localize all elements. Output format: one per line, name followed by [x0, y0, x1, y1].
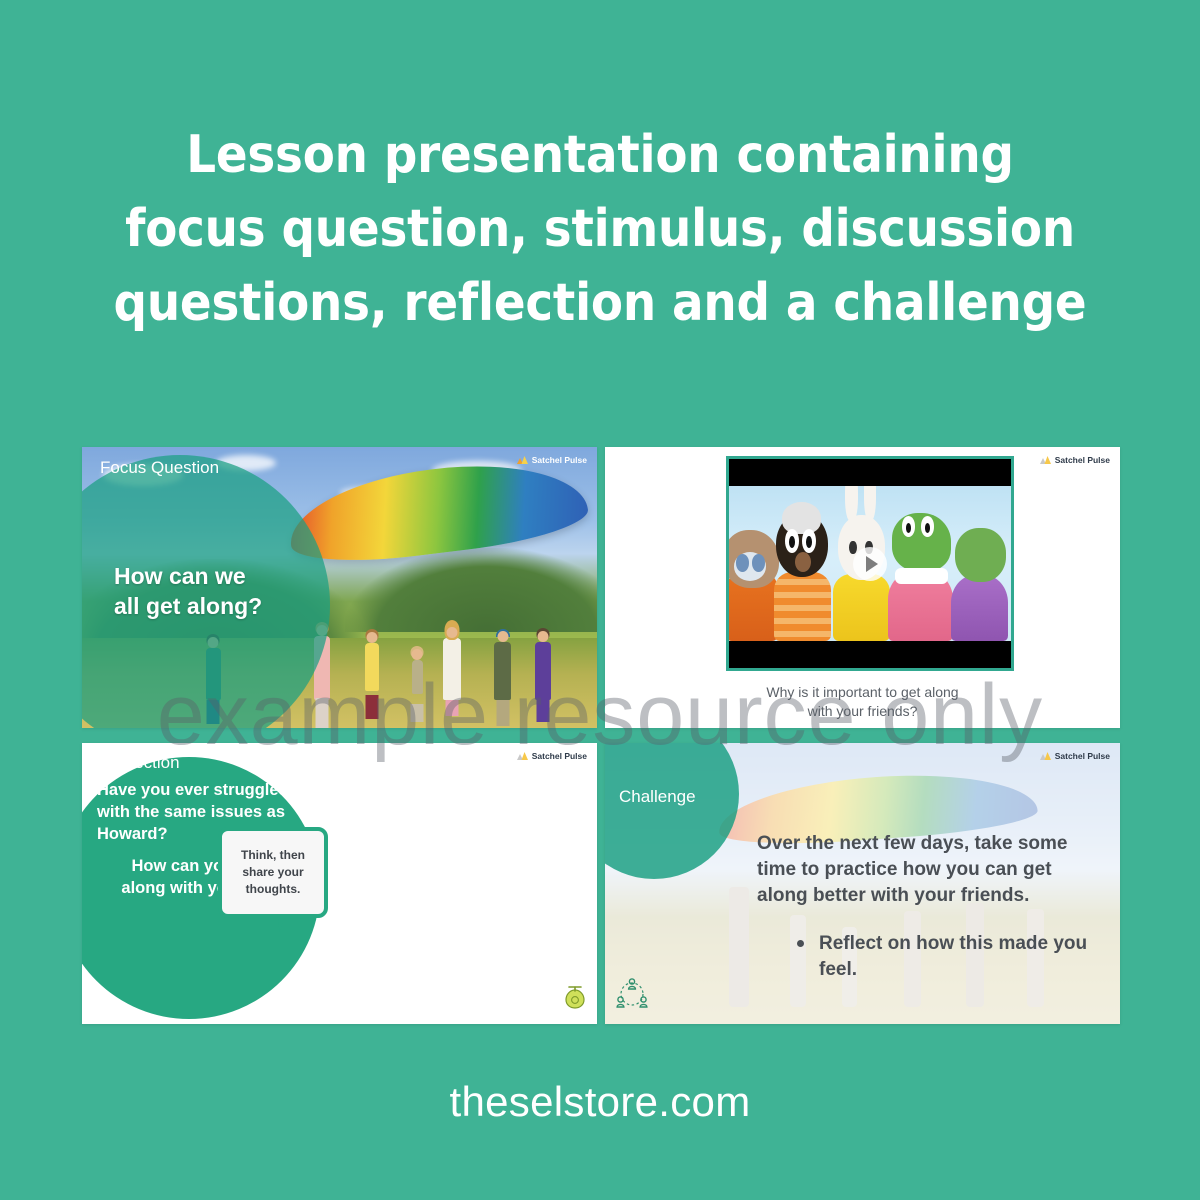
focus-question-line-1: How can we: [114, 563, 246, 589]
brand-logo-text: Satchel Pulse: [532, 751, 587, 761]
brand-logo: Satchel Pulse: [1040, 751, 1110, 761]
page-title-line-1: Lesson presentation containing: [0, 118, 1200, 192]
page-title-line-2: focus question, stimulus, discussion: [0, 192, 1200, 266]
child-figure: [494, 642, 511, 700]
slide-stimulus[interactable]: Satchel Pulse: [605, 447, 1120, 728]
cartoon-crocodile: [887, 511, 955, 641]
mountains-icon: [517, 456, 528, 464]
challenge-body-text: Over the next few days, take some time t…: [757, 833, 1067, 906]
slide-eyebrow-reflection: Reflection: [104, 753, 180, 773]
child-figure: [443, 638, 461, 700]
video-thumbnail: [729, 486, 1011, 641]
brand-logo: Satchel Pulse: [1040, 455, 1110, 465]
stimulus-caption: Why is it important to get along with yo…: [605, 683, 1120, 721]
challenge-body: Over the next few days, take some time t…: [757, 831, 1099, 983]
brand-logo: Satchel Pulse: [517, 455, 587, 465]
brand-logo: Satchel Pulse: [517, 751, 587, 761]
slide-focus-question[interactable]: Focus Question How can we all get along?…: [82, 447, 597, 728]
mountains-icon: [517, 752, 528, 760]
challenge-bullet-item: Reflect on how this made you feel.: [797, 931, 1099, 983]
mountains-icon: [1040, 752, 1051, 760]
play-icon[interactable]: [853, 547, 887, 581]
focus-question-line-2: all get along?: [114, 593, 262, 619]
brand-logo-text: Satchel Pulse: [1055, 455, 1110, 465]
stimulus-caption-line-1: Why is it important to get along: [766, 684, 958, 700]
page-title: Lesson presentation containing focus que…: [0, 118, 1200, 340]
speech-bubble: Think, then share your thoughts.: [218, 827, 348, 947]
letterbox-bar: [729, 459, 1011, 486]
hill-shape: [345, 548, 597, 632]
focus-question-text: How can we all get along?: [114, 561, 324, 621]
slide-thumbnail-grid: Focus Question How can we all get along?…: [82, 447, 1120, 1031]
slide-reflection[interactable]: Reflection Have you ever struggles with …: [82, 743, 597, 1024]
child-figure: [535, 642, 551, 700]
slide-challenge[interactable]: Challenge Over the next few days, take s…: [605, 743, 1120, 1024]
challenge-bullet-list: Reflect on how this made you feel.: [797, 931, 1099, 983]
speech-bubble-text: Think, then share your thoughts.: [218, 827, 328, 918]
slide-eyebrow-challenge: Challenge: [619, 787, 696, 807]
cartoon-skunk: [771, 508, 833, 641]
stimulus-caption-line-2: with your friends?: [808, 703, 918, 719]
relationship-skills-icon: [615, 975, 649, 1014]
brand-logo-text: Satchel Pulse: [1055, 751, 1110, 761]
letterbox-bar: [729, 641, 1011, 668]
mountains-icon: [1040, 456, 1051, 464]
child-figure: [365, 643, 379, 691]
footer-url: theselstore.com: [0, 1078, 1200, 1126]
page-title-line-3: questions, reflection and a challenge: [0, 266, 1200, 340]
slide-eyebrow-focus-question: Focus Question: [100, 458, 219, 478]
seed-icon: [565, 983, 585, 1014]
cartoon-character: [949, 523, 1011, 641]
brand-logo-text: Satchel Pulse: [532, 455, 587, 465]
video-player[interactable]: [726, 456, 1014, 671]
child-figure: [412, 660, 423, 694]
